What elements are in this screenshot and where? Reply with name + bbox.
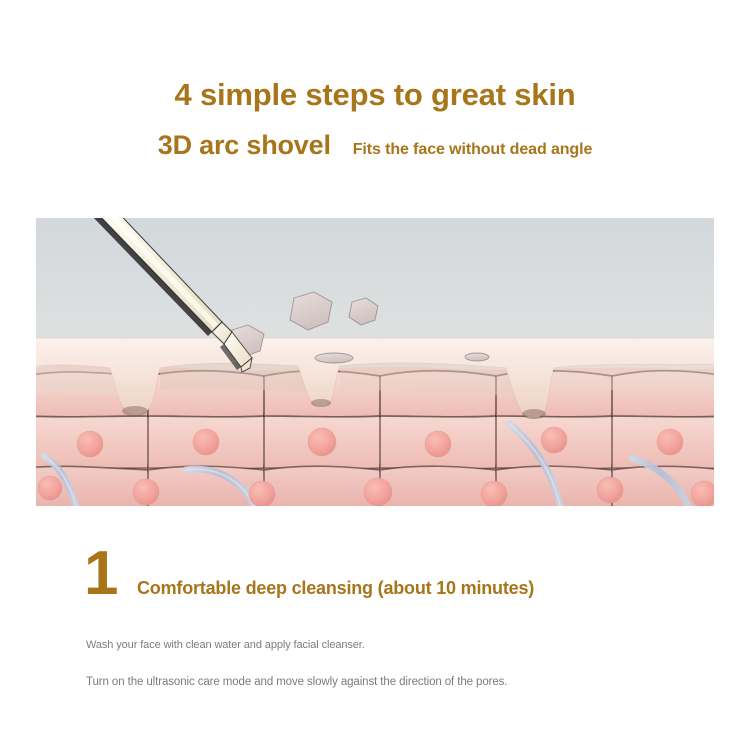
epidermis-shadow-far-right (554, 364, 714, 392)
page-title: 4 simple steps to great skin (0, 78, 750, 112)
epidermis-shadow-mid (160, 363, 308, 392)
step-instruction-1: Wash your face with clean water and appl… (86, 639, 365, 651)
flake-flat-right (465, 353, 489, 361)
skin-cross-section-illustration (36, 218, 714, 506)
step-number: 1 (84, 543, 117, 605)
skin-illustration-svg (36, 218, 714, 506)
step-title: Comfortable deep cleansing (about 10 min… (137, 578, 534, 599)
step-instruction-2: Turn on the ultrasonic care mode and mov… (86, 676, 507, 688)
epidermis-shadow-left (36, 365, 120, 396)
subtitle-row: 3D arc shovel Fits the face without dead… (0, 130, 750, 161)
product-feature-title: 3D arc shovel (158, 130, 331, 161)
product-feature-tagline: Fits the face without dead angle (353, 141, 593, 159)
flake-flat-left (315, 353, 353, 363)
